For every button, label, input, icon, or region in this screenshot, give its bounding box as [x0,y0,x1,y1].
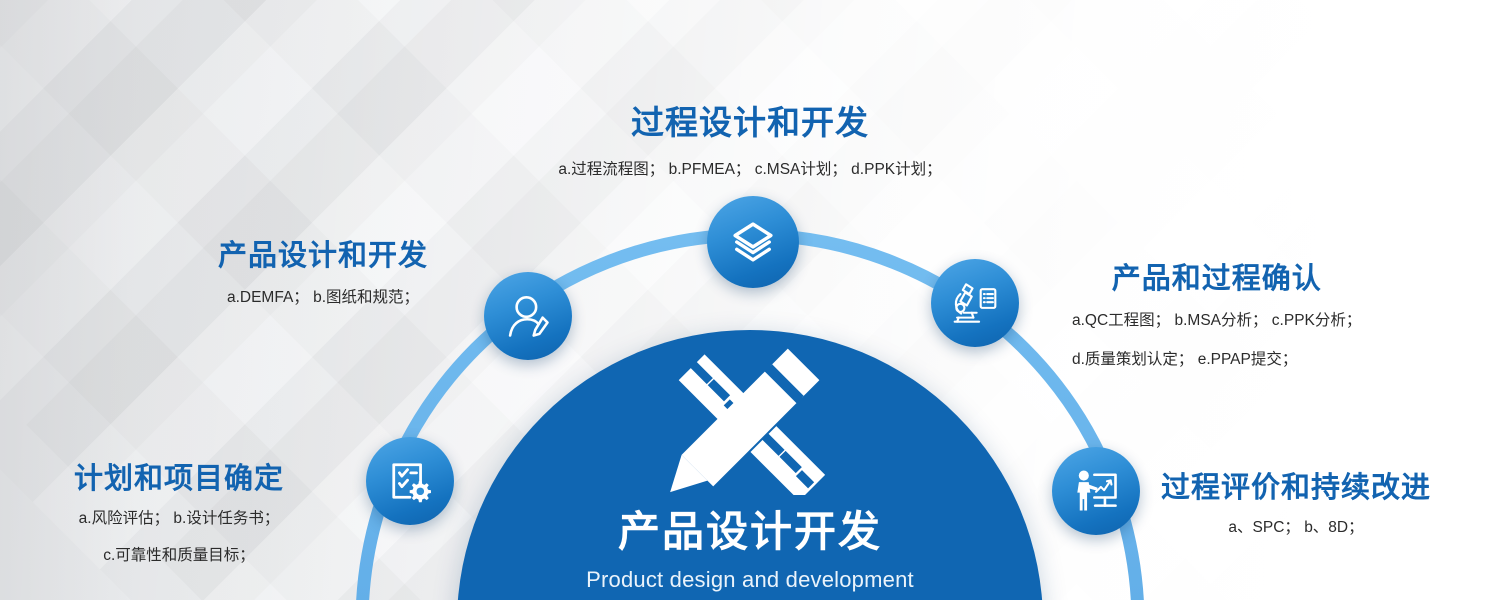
label-plan-project-line1: a.风险评估； b.设计任务书； [74,505,284,534]
checklist-gear-icon [384,455,436,507]
label-product-process-confirm-title: 产品和过程确认 [1072,255,1361,297]
label-process-design-title: 过程设计和开发 [0,96,1500,144]
label-plan-project-line2: c.可靠性和质量目标； [74,542,284,571]
label-process-design-line1: a.过程流程图； b.PFMEA； c.MSA计划； d.PPK计划； [0,156,1500,185]
label-product-design-line1: a.DEMFA； b.图纸和规范； [218,284,428,313]
center-title-en: Product design and development [586,567,914,593]
label-plan-project-title: 计划和项目确定 [74,455,284,497]
label-product-design-title: 产品设计和开发 [218,232,428,274]
center-title-cn: 产品设计开发 [618,509,882,555]
label-process-evaluation: 过程评价和持续改进 a、SPC； b、8D； [1161,464,1431,543]
infographic-canvas: 产品设计开发 Product design and development [0,0,1500,600]
layers-stack-icon [727,216,779,268]
node-plan-project[interactable] [366,437,454,525]
node-product-process-confirm[interactable] [931,259,1019,347]
label-product-design: 产品设计和开发 a.DEMFA； b.图纸和规范； [218,232,428,313]
label-process-design: 过程设计和开发 a.过程流程图； b.PFMEA； c.MSA计划； d.PPK… [0,96,1500,185]
presenter-chart-icon [1070,465,1122,517]
center-hub: 产品设计开发 Product design and development [457,330,1043,600]
label-product-process-confirm-line1: a.QC工程图； b.MSA分析； c.PPK分析； [1072,307,1361,336]
microscope-checklist-icon [949,277,1001,329]
pencil-ruler-icon [663,340,838,495]
person-pencil-icon [502,290,554,342]
node-process-design[interactable] [707,196,799,288]
node-process-evaluation[interactable] [1052,447,1140,535]
label-plan-project: 计划和项目确定 a.风险评估； b.设计任务书； c.可靠性和质量目标； [74,455,284,570]
label-product-process-confirm-line2: d.质量策划认定； e.PPAP提交； [1072,346,1361,375]
center-hub-content: 产品设计开发 Product design and development [457,340,1043,593]
label-process-evaluation-line1: a、SPC； b、8D； [1161,514,1431,543]
label-product-process-confirm: 产品和过程确认 a.QC工程图； b.MSA分析； c.PPK分析； d.质量策… [1072,255,1361,374]
node-product-design[interactable] [484,272,572,360]
label-process-evaluation-title: 过程评价和持续改进 [1161,464,1431,506]
